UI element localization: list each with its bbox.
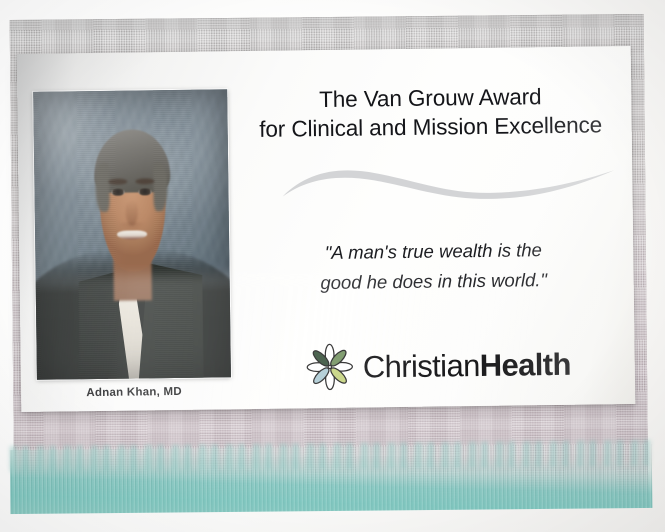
award-quote-line-1: "A man's true wealth is the [257, 234, 609, 269]
brand-wordmark: ChristianHealth [363, 348, 571, 382]
brand-word-health: Health [479, 346, 571, 382]
christian-health-petal-mark-icon [304, 343, 355, 392]
recipient-name-caption: Adnan Khan, MD [37, 385, 231, 400]
portrait-eye-left [111, 189, 125, 196]
brand-word-christian: Christian [363, 348, 480, 385]
portrait-sideburn-left [95, 163, 109, 212]
brand-logo-lockup: ChristianHealth [304, 336, 595, 394]
award-title-line-2: for Clinical and Mission Excellence [246, 111, 616, 145]
award-certificate-card: Adnan Khan, MD The Van Grouw Award for C… [17, 46, 636, 412]
recipient-portrait-photo [33, 89, 231, 380]
portrait-sideburn-right [153, 162, 167, 211]
award-quote: "A man's true wealth is the good he does… [257, 234, 610, 299]
framed-award-photograph: Adnan Khan, MD The Van Grouw Award for C… [0, 0, 665, 532]
award-title: The Van Grouw Award for Clinical and Mis… [245, 82, 616, 144]
award-quote-line-2: good he does in this world." [258, 264, 610, 299]
swoosh-divider-icon [280, 158, 617, 208]
portrait-eye-right [138, 188, 152, 195]
